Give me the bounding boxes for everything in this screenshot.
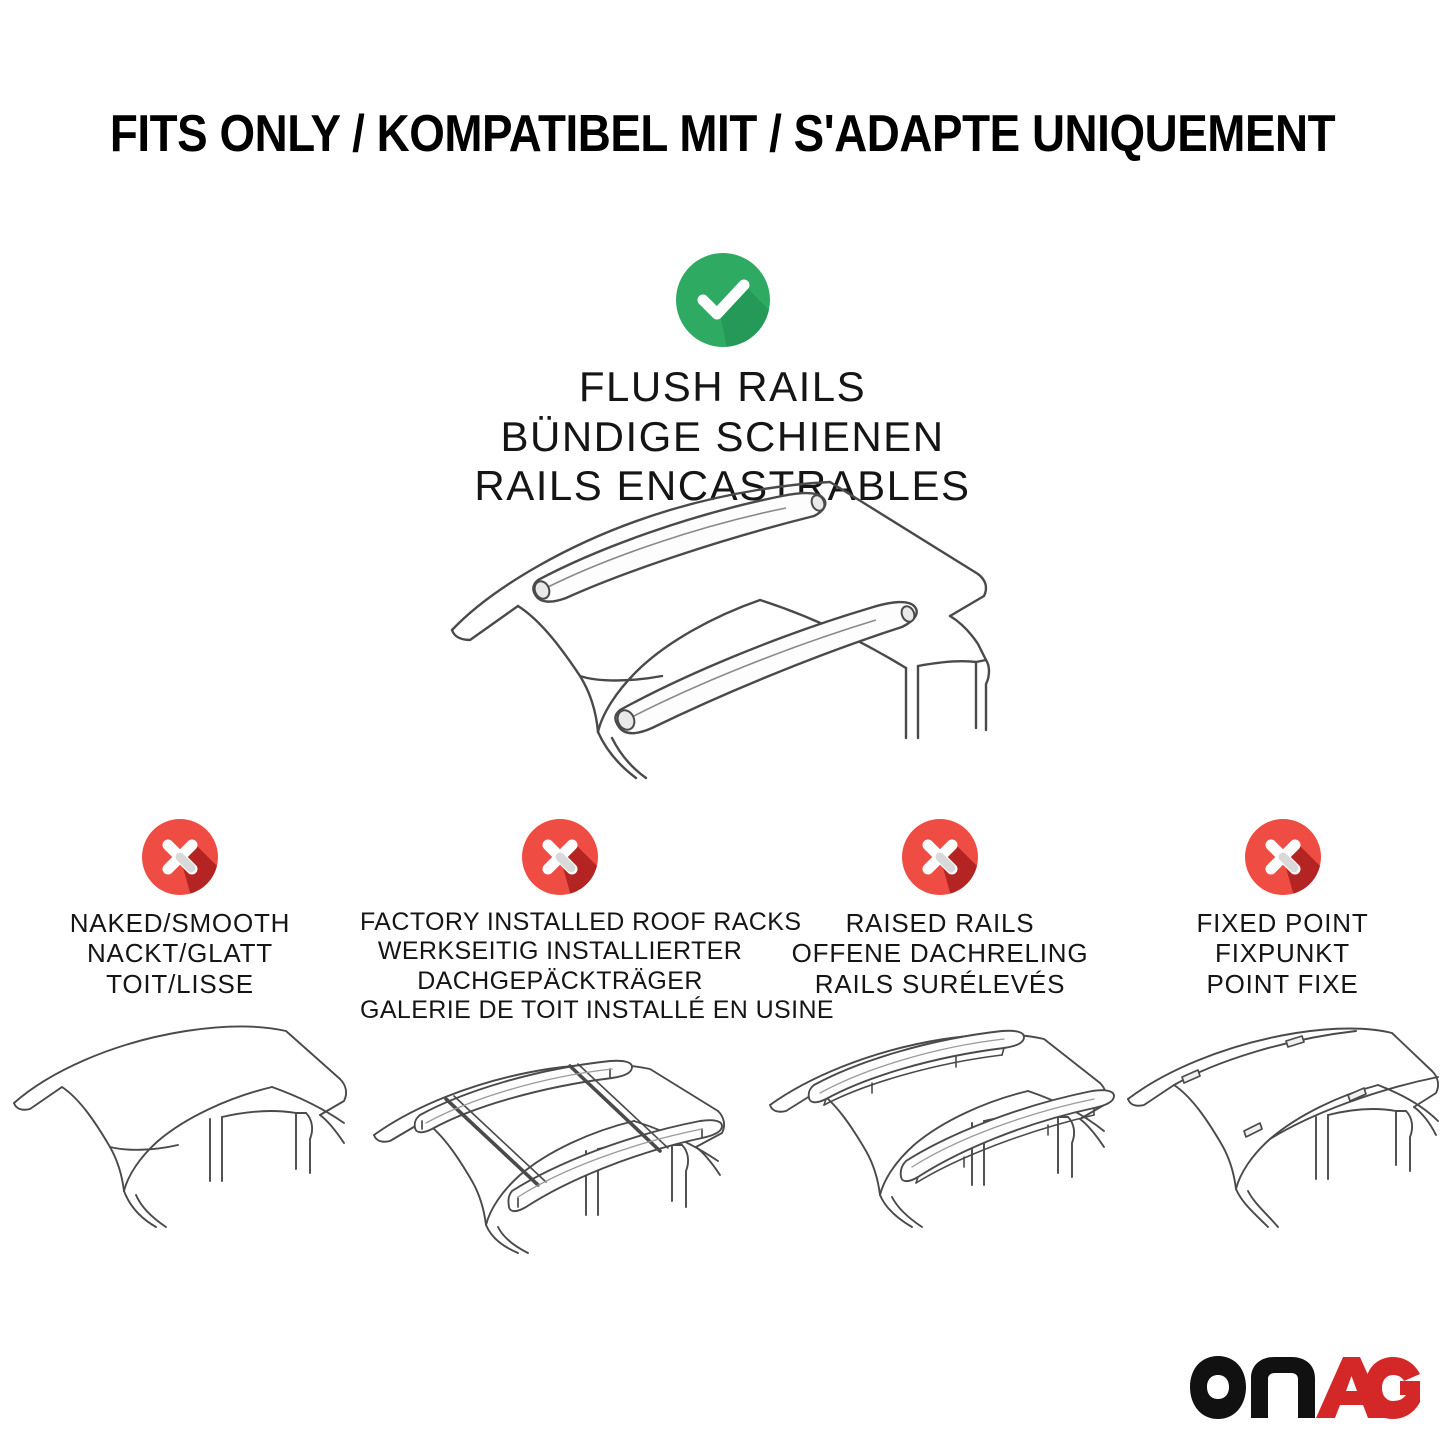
incompatible-item-naked-smooth: NAKED/SMOOTH NACKT/GLATT TOIT/LISSE	[0, 818, 360, 1228]
incompatible-labels: RAISED RAILS OFFENE DACHRELING RAILS SUR…	[760, 908, 1120, 999]
compatible-label-line-1: FLUSH RAILS	[0, 362, 1445, 412]
logo-letter-c	[1365, 1357, 1420, 1419]
compatible-label-line-2: BÜNDIGE SCHIENEN	[0, 412, 1445, 462]
logo-letter-m	[1251, 1357, 1315, 1418]
incompatible-labels: NAKED/SMOOTH NACKT/GLATT TOIT/LISSE	[0, 908, 360, 999]
omac-logo	[1188, 1354, 1422, 1422]
x-circle-icon	[521, 818, 599, 896]
label-line-1: RAISED RAILS	[760, 908, 1120, 938]
label-line-1: NAKED/SMOOTH	[0, 908, 360, 938]
car-roof-naked-smooth-illustration	[0, 1013, 360, 1228]
incompatible-section: NAKED/SMOOTH NACKT/GLATT TOIT/LISSE	[0, 818, 1445, 1254]
fitment-infographic: FITS ONLY / KOMPATIBEL MIT / S'ADAPTE UN…	[0, 0, 1445, 1445]
car-roof-with-flush-rails-illustration	[430, 470, 1030, 780]
incompatible-item-fixed-point: FIXED POINT FIXPUNKT POINT FIXE	[1120, 818, 1445, 1228]
logo-letter-o	[1190, 1356, 1246, 1419]
label-line-2: OFFENE DACHRELING	[760, 938, 1120, 968]
incompatible-item-raised-rails: RAISED RAILS OFFENE DACHRELING RAILS SUR…	[760, 818, 1120, 1228]
incompatible-labels: FIXED POINT FIXPUNKT POINT FIXE	[1120, 908, 1445, 999]
x-circle-icon	[901, 818, 979, 896]
label-line-1: FIXED POINT	[1120, 908, 1445, 938]
label-line-2: FIXPUNKT	[1120, 938, 1445, 968]
label-line-3: POINT FIXE	[1120, 969, 1445, 999]
label-line-4: GALERIE DE TOIT INSTALLÉ EN USINE	[360, 996, 760, 1025]
label-line-2: NACKT/GLATT	[0, 938, 360, 968]
car-roof-fixed-point-illustration	[1120, 1013, 1445, 1228]
label-line-1: FACTORY INSTALLED ROOF RACKS	[360, 908, 760, 937]
car-roof-raised-rails-illustration	[760, 1013, 1120, 1228]
x-circle-icon	[1244, 818, 1322, 896]
label-line-3: DACHGEPÄCKTRÄGER	[360, 967, 760, 996]
page-title: FITS ONLY / KOMPATIBEL MIT / S'ADAPTE UN…	[87, 104, 1359, 164]
car-roof-factory-roof-racks-illustration	[360, 1039, 760, 1254]
check-circle-icon	[675, 252, 771, 348]
incompatible-labels: FACTORY INSTALLED ROOF RACKS WERKSEITIG …	[360, 908, 760, 1025]
x-circle-icon	[141, 818, 219, 896]
label-line-3: TOIT/LISSE	[0, 969, 360, 999]
label-line-3: RAILS SURÉLEVÉS	[760, 969, 1120, 999]
label-line-2: WERKSEITIG INSTALLIERTER	[360, 937, 760, 966]
incompatible-item-factory-roof-racks: FACTORY INSTALLED ROOF RACKS WERKSEITIG …	[360, 818, 760, 1254]
